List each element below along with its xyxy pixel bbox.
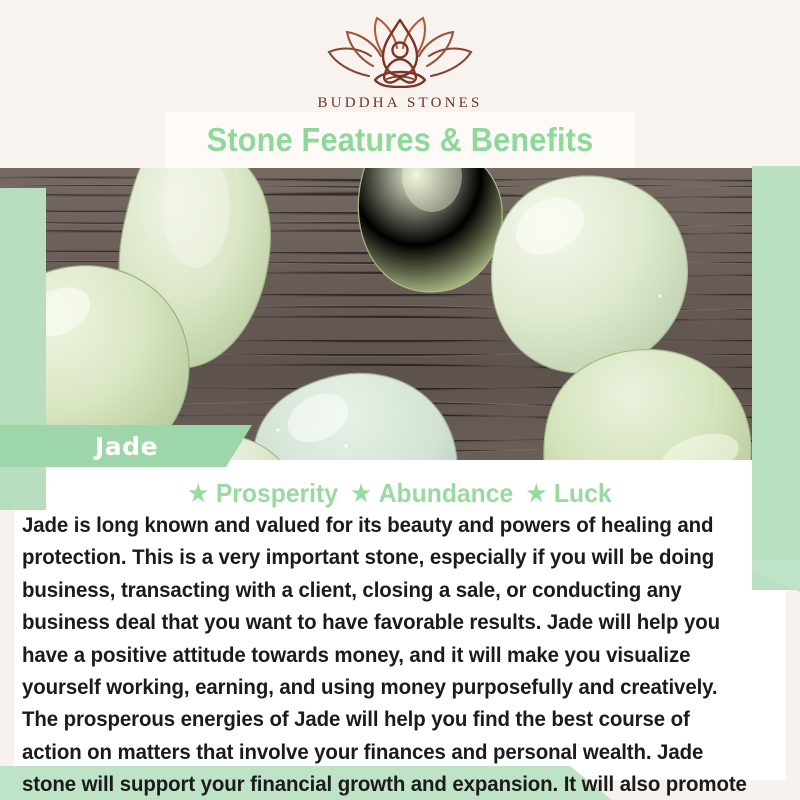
star-icon: ★ xyxy=(527,480,547,506)
brand-logo: BUDDHA STONES xyxy=(0,14,800,112)
lotus-meditation-icon xyxy=(0,14,800,93)
keyword-prosperity-label: Prosperity xyxy=(216,478,338,508)
keyword-luck-label: Luck xyxy=(554,478,612,508)
keyword-abundance: ★ Abundance xyxy=(351,478,513,508)
star-icon: ★ xyxy=(188,480,208,506)
infographic-page: BUDDHA STONES xyxy=(0,0,800,800)
star-icon: ★ xyxy=(351,480,371,506)
keyword-prosperity: ★ Prosperity xyxy=(188,478,338,508)
jade-stones-photo xyxy=(0,168,800,460)
page-title: Stone Features & Benefits xyxy=(181,118,618,162)
keyword-abundance-label: Abundance xyxy=(379,478,513,508)
benefit-keywords: ★ Prosperity★ Abundance★ Luck xyxy=(33,478,766,508)
brand-name: BUDDHA STONES xyxy=(0,95,800,112)
stone-name-label: Jade xyxy=(95,432,158,461)
decor-bar-right xyxy=(752,166,800,590)
keyword-luck: ★ Luck xyxy=(527,478,612,508)
description-text: Jade is long known and valued for its be… xyxy=(22,509,750,800)
